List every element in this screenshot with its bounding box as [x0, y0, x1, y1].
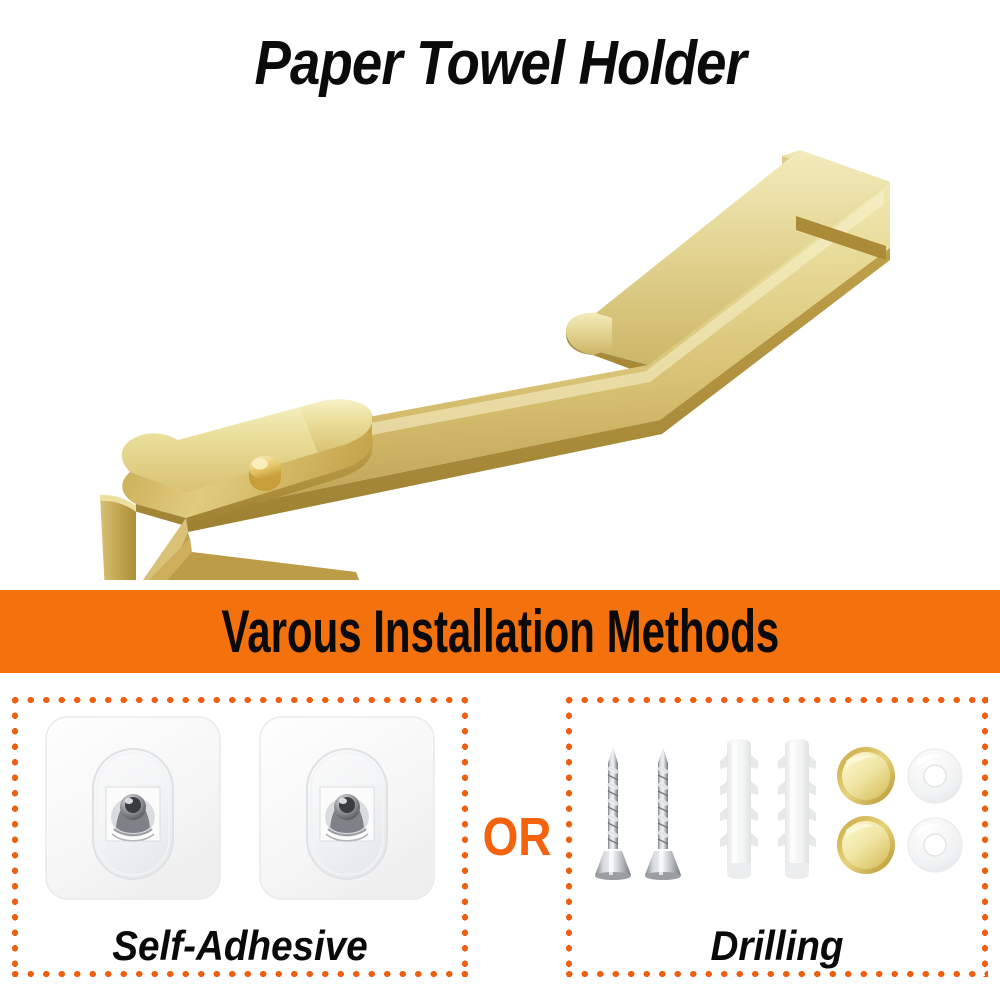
method-label-drilling: Drilling — [583, 925, 971, 967]
page-title: Paper Towel Holder — [0, 24, 1000, 104]
towel-holder-illustration — [0, 120, 1000, 580]
wall-anchor-2 — [778, 739, 816, 879]
adhesive-pad-2 — [258, 715, 436, 901]
gold-cap-2 — [837, 816, 895, 874]
installation-banner-text: Varous Installation Methods — [221, 602, 779, 662]
page-title-text: Paper Towel Holder — [254, 33, 745, 95]
drilling-hardware-illustration — [587, 733, 967, 893]
holder-left-riser — [100, 495, 136, 580]
adhesive-pad-1 — [44, 715, 222, 901]
method-panel-drilling[interactable]: Drilling — [566, 697, 988, 977]
screw-1 — [595, 747, 631, 880]
installation-banner: Varous Installation Methods — [0, 590, 1000, 673]
holder-back-arm-endcap — [566, 313, 612, 355]
infographic-page: Paper Towel Holder — [0, 0, 1000, 1000]
installation-methods-section: Self-Adhesive — [0, 673, 1000, 1000]
mounting-knob-front — [249, 456, 281, 491]
drilling-hardware-group — [566, 723, 988, 903]
product-hero-image — [0, 120, 1000, 580]
screw-2 — [645, 747, 681, 880]
gold-cap-1 — [837, 747, 895, 805]
method-panel-self-adhesive[interactable]: Self-Adhesive — [12, 697, 468, 977]
washer-1 — [908, 749, 962, 803]
method-label-self-adhesive: Self-Adhesive — [30, 925, 450, 967]
washer-2 — [908, 818, 962, 872]
wall-anchor-1 — [720, 739, 758, 879]
adhesive-pad-group — [12, 713, 468, 903]
